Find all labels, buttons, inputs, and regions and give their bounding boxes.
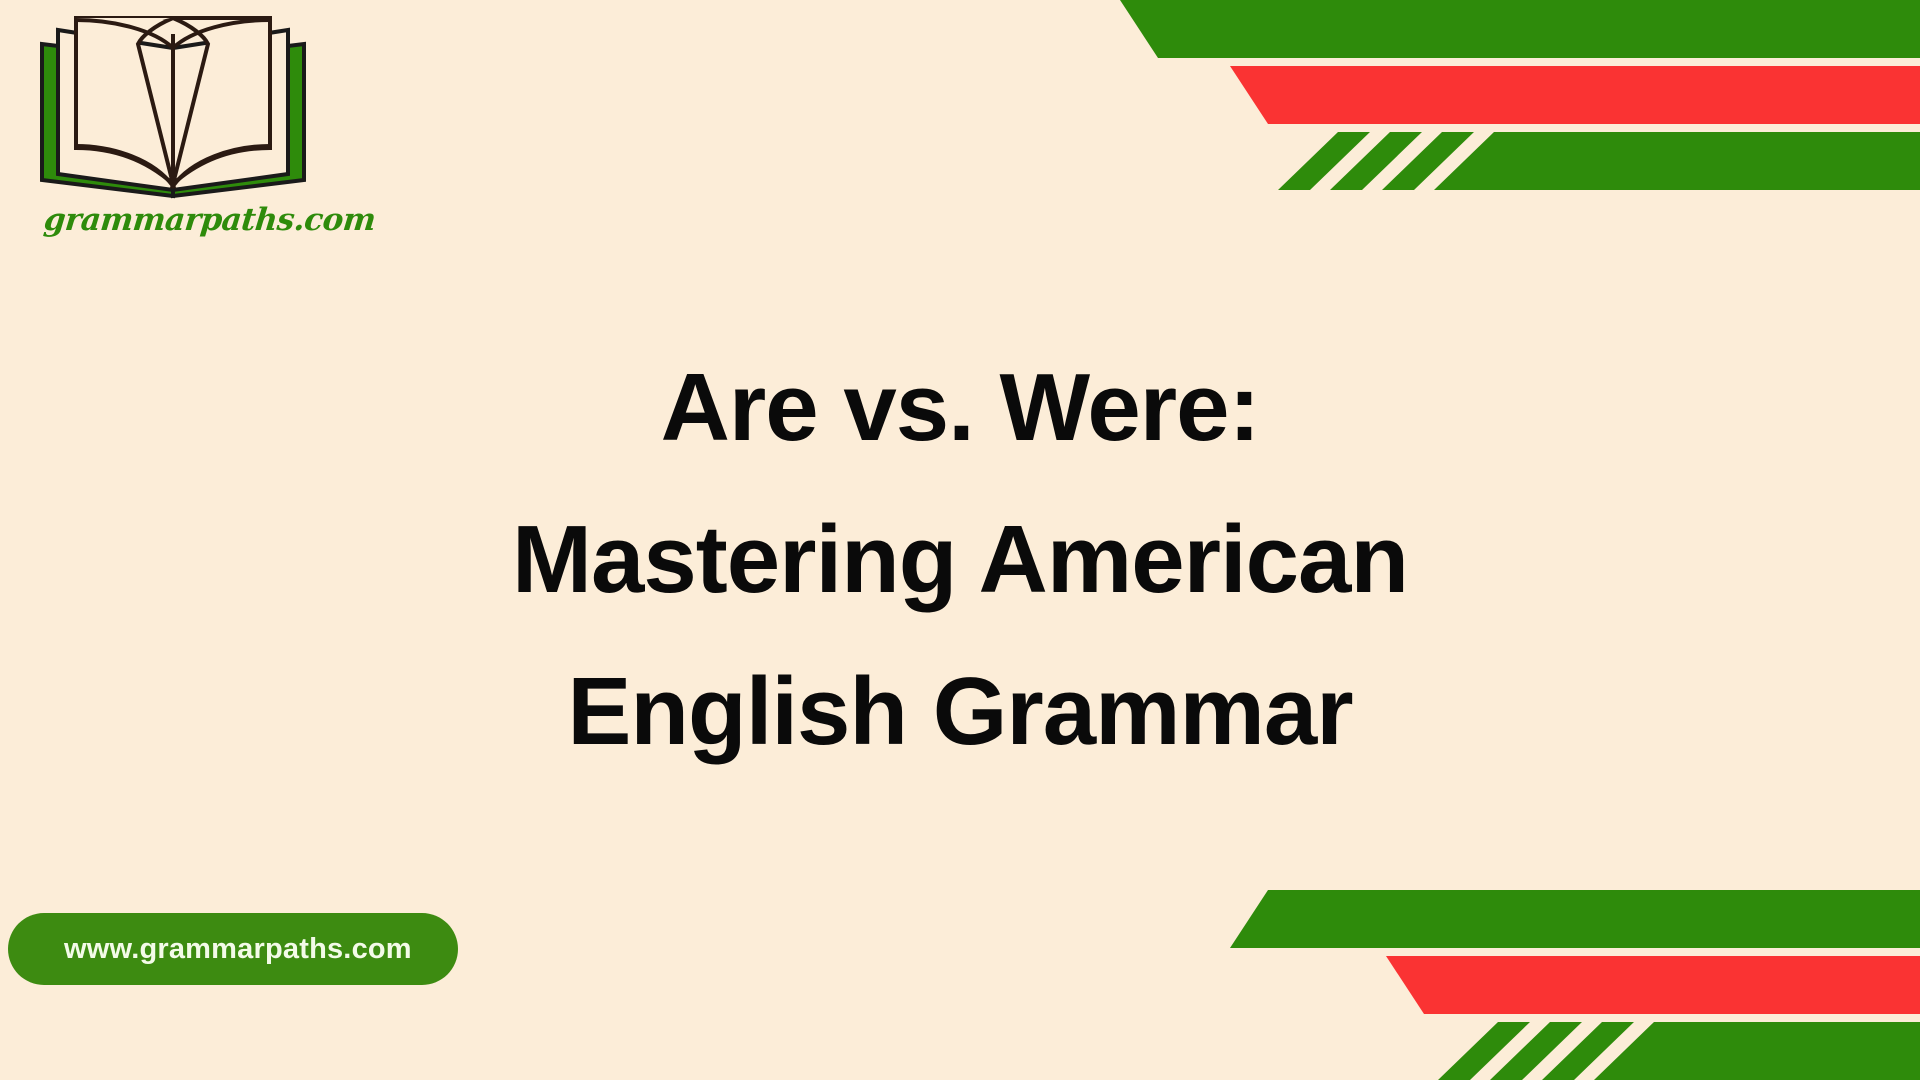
- ribbon-slash-2: [1330, 132, 1422, 190]
- brand-wordmark: grammarpaths.com: [32, 202, 316, 238]
- ribbon-bar-green-top: [1230, 890, 1920, 948]
- ribbon-slash-3: [1382, 132, 1474, 190]
- poster-canvas: grammarpaths.com Are vs. Were: Mastering…: [0, 0, 1920, 1080]
- ribbon-bar-green-bottom: [1434, 132, 1920, 190]
- ribbon-slash-group: [1438, 1022, 1634, 1080]
- corner-ribbon-top-right: [1120, 0, 1920, 190]
- brand-logo[interactable]: grammarpaths.com: [34, 8, 314, 238]
- website-url-badge[interactable]: www.grammarpaths.com: [8, 913, 458, 985]
- website-url-label: www.grammarpaths.com: [64, 933, 412, 966]
- open-book-icon: [34, 8, 312, 208]
- ribbon-slash-group: [1278, 132, 1474, 190]
- ribbon-bar-red: [1386, 956, 1920, 1014]
- ribbon-slash-3: [1542, 1022, 1634, 1080]
- ribbon-bar-red: [1230, 66, 1920, 124]
- page-title-line-3: English Grammar: [300, 636, 1620, 788]
- ribbon-bar-green-top: [1120, 0, 1920, 58]
- ribbon-bar-green-bottom: [1594, 1022, 1920, 1080]
- page-title: Are vs. Were: Mastering American English…: [0, 332, 1920, 788]
- ribbon-slash-2: [1490, 1022, 1582, 1080]
- page-title-line-2: Mastering American: [300, 484, 1620, 636]
- page-title-line-1: Are vs. Were:: [300, 332, 1620, 484]
- ribbon-slash-1: [1438, 1022, 1530, 1080]
- corner-ribbon-bottom-right: [1120, 890, 1920, 1080]
- ribbon-slash-1: [1278, 132, 1370, 190]
